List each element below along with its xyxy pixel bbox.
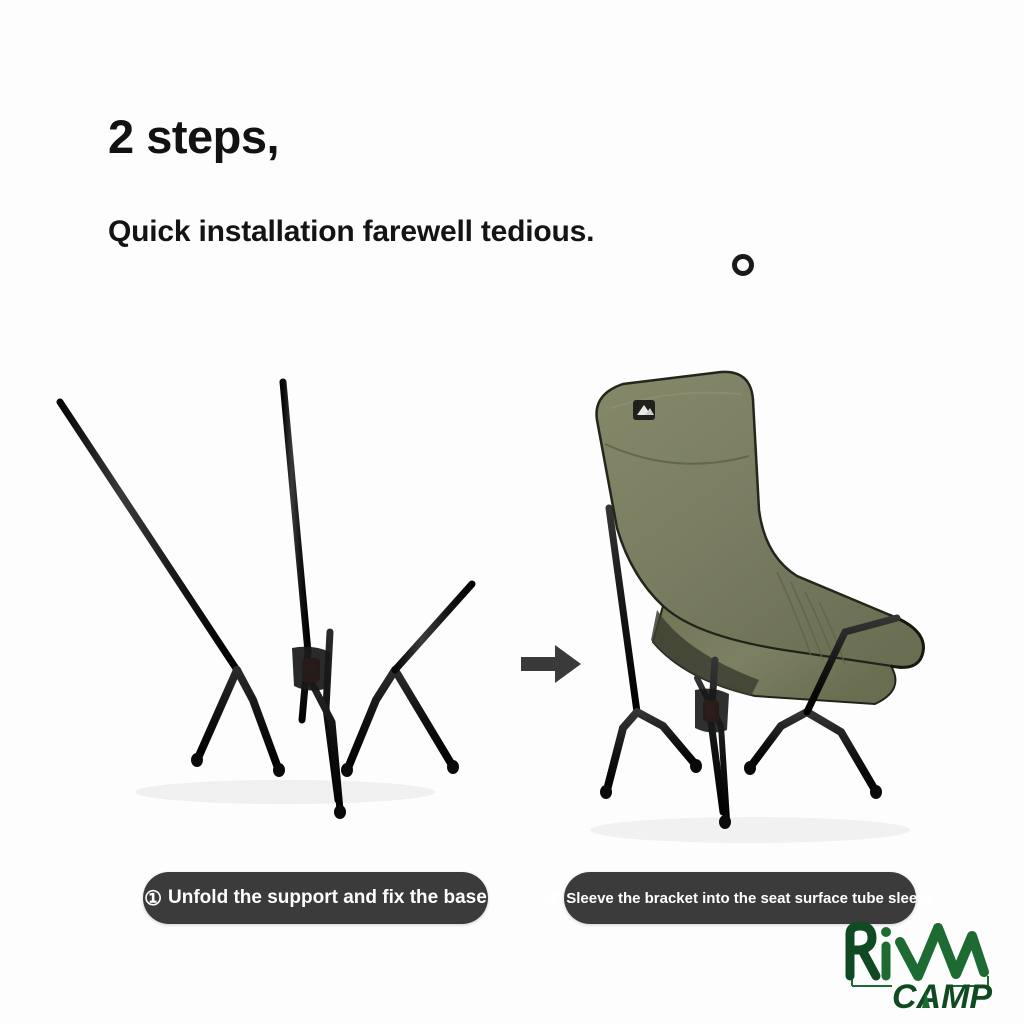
circle-outline-icon	[732, 254, 754, 276]
step-1-number: ①	[144, 886, 162, 911]
page-subtitle: Quick installation farewell tedious.	[108, 215, 594, 249]
brand-logo: CAMP	[838, 912, 1018, 1010]
step-1-label: Unfold the support and fix the base	[168, 887, 487, 909]
step-2-label: Sleeve the bracket into the seat surface…	[566, 890, 934, 907]
mountain-logo-patch-icon	[633, 400, 655, 420]
step-2-illustration	[545, 360, 965, 860]
page-title: 2 steps,	[108, 112, 279, 161]
step-2-number: ②	[546, 888, 560, 908]
promo-page: 2 steps, Quick installation farewell ted…	[0, 0, 1024, 1024]
step-1-caption: ① Unfold the support and fix the base	[143, 872, 488, 924]
step-1-illustration	[40, 370, 510, 850]
brand-name-bottom: CAMP	[892, 978, 992, 1010]
